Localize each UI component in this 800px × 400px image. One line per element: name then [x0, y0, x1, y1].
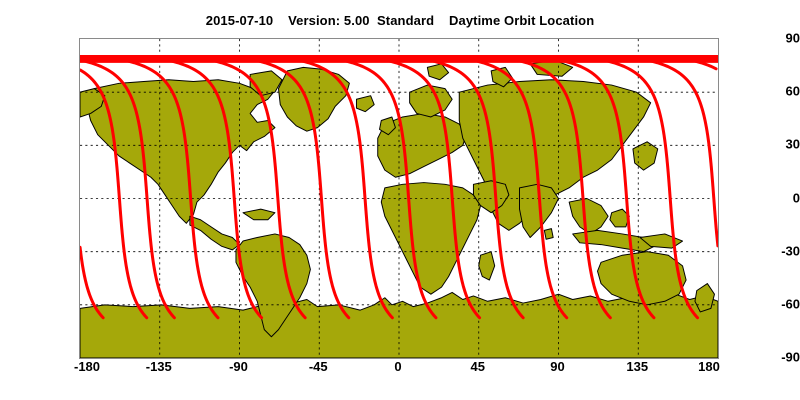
orbit-location-figure: 2015-07-10 Version: 5.00 Standard Daytim…	[0, 0, 800, 400]
x-tick-label: -45	[309, 359, 328, 374]
x-axis: -180-135-90-4504590135180	[0, 0, 800, 400]
x-tick-label: -90	[229, 359, 248, 374]
x-tick-label: -180	[74, 359, 100, 374]
x-tick-label: 135	[626, 359, 648, 374]
x-tick-label: 180	[698, 359, 720, 374]
x-tick-label: 0	[394, 359, 401, 374]
x-tick-label: 45	[471, 359, 485, 374]
x-tick-label: -135	[146, 359, 172, 374]
x-tick-label: 90	[550, 359, 564, 374]
